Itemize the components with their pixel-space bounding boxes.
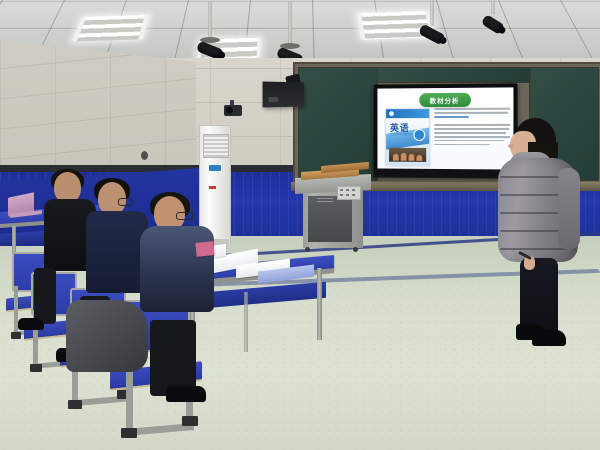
podium-control-panel[interactable]: [337, 186, 361, 200]
ac-indicator: [209, 186, 216, 189]
observer-3: [140, 196, 220, 336]
leg: [34, 268, 56, 324]
boot: [532, 330, 566, 346]
ac-vent: [203, 134, 229, 158]
shoe: [18, 318, 44, 330]
textbook-subtitle: 义务教育教科书: [390, 132, 413, 136]
textbook-cover-image: 英语 义务教育教科书: [385, 108, 430, 166]
slide-title: 教材分析: [419, 93, 471, 107]
ceiling-camera-icon: [205, 2, 215, 40]
smart-display[interactable]: 教材分析 英语 义务教育教科书: [374, 83, 518, 178]
glasses-icon: [118, 198, 133, 206]
writing-hand-sleeve: [195, 241, 214, 257]
arm: [558, 168, 580, 250]
presentation-slide: 教材分析 英语 义务教育教科书: [377, 87, 513, 169]
ceiling-camera-icon: [489, 0, 497, 14]
blackboard-panel-top: [377, 67, 531, 83]
nose: [508, 144, 514, 148]
display-screen[interactable]: 教材分析 英语 义务教育教科书: [377, 87, 513, 169]
coat-on-chair: [66, 300, 148, 372]
classroom-photo: 教材分析 英语 义务教育教科书: [0, 0, 600, 450]
shoe: [166, 386, 206, 402]
podium-keyboard[interactable]: [317, 192, 333, 204]
wall-speaker: [263, 82, 304, 108]
torso: [140, 226, 214, 312]
wall-camera-icon: [224, 105, 242, 116]
textbook-cover-photo: [389, 148, 426, 162]
ceiling-light-panel: [72, 15, 149, 42]
ac-brand-badge: [209, 165, 221, 171]
ceiling-camera-icon: [428, 0, 436, 26]
multimedia-podium[interactable]: [291, 162, 371, 252]
laptop[interactable]: [8, 195, 42, 217]
leg: [150, 320, 196, 396]
teacher: [498, 118, 582, 354]
wall-outlet-icon: [141, 151, 148, 160]
glasses-icon: [176, 212, 193, 220]
torso: [86, 211, 148, 293]
display-bezel: [374, 168, 518, 178]
textbook-badge-icon: [413, 129, 425, 141]
ceiling-camera-icon: [285, 2, 295, 46]
